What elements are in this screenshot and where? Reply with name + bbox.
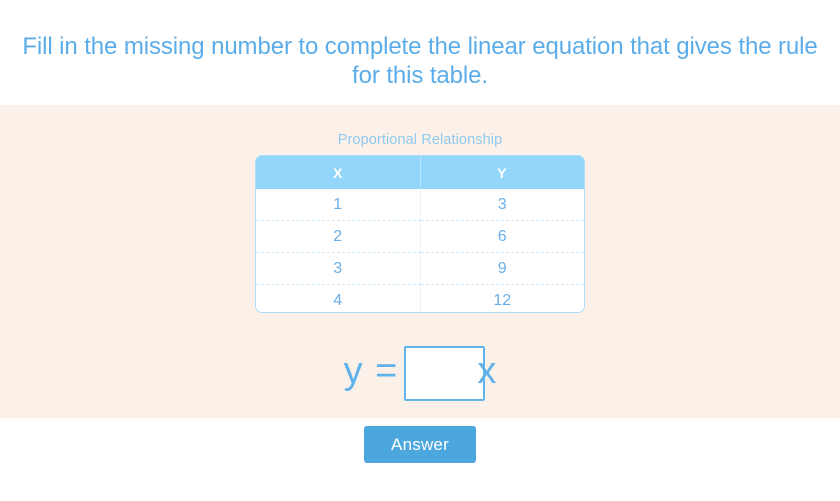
cell-y: 9 [420, 253, 584, 285]
cell-x: 3 [256, 253, 420, 285]
cell-x: 4 [256, 285, 420, 314]
prompt-band: Fill in the missing number to complete t… [0, 0, 840, 105]
question-prompt: Fill in the missing number to complete t… [20, 15, 820, 90]
cell-y: 6 [420, 221, 584, 253]
cell-y: 12 [420, 285, 584, 314]
table-row: 3 9 [256, 253, 584, 285]
table-row: 4 12 [256, 285, 584, 314]
equation-variable-x: x [477, 352, 496, 394]
table-row: 1 3 [256, 189, 584, 221]
equation-left-side: y = [344, 352, 399, 394]
table-header-row: X Y [256, 156, 584, 189]
content-panel: Proportional Relationship X Y 1 3 2 6 [0, 105, 840, 418]
equation-row: y = x [0, 337, 840, 409]
table-caption: Proportional Relationship [0, 132, 840, 148]
cell-y: 3 [420, 189, 584, 221]
cell-x: 2 [256, 221, 420, 253]
answer-area: Answer [0, 418, 840, 501]
equation-answer-input[interactable] [404, 346, 485, 401]
answer-button[interactable]: Answer [364, 426, 476, 463]
table-header-x: X [256, 156, 420, 189]
proportional-relationship-table: X Y 1 3 2 6 3 9 4 12 [255, 155, 585, 313]
table-header-y: Y [420, 156, 584, 189]
table-row: 2 6 [256, 221, 584, 253]
cell-x: 1 [256, 189, 420, 221]
